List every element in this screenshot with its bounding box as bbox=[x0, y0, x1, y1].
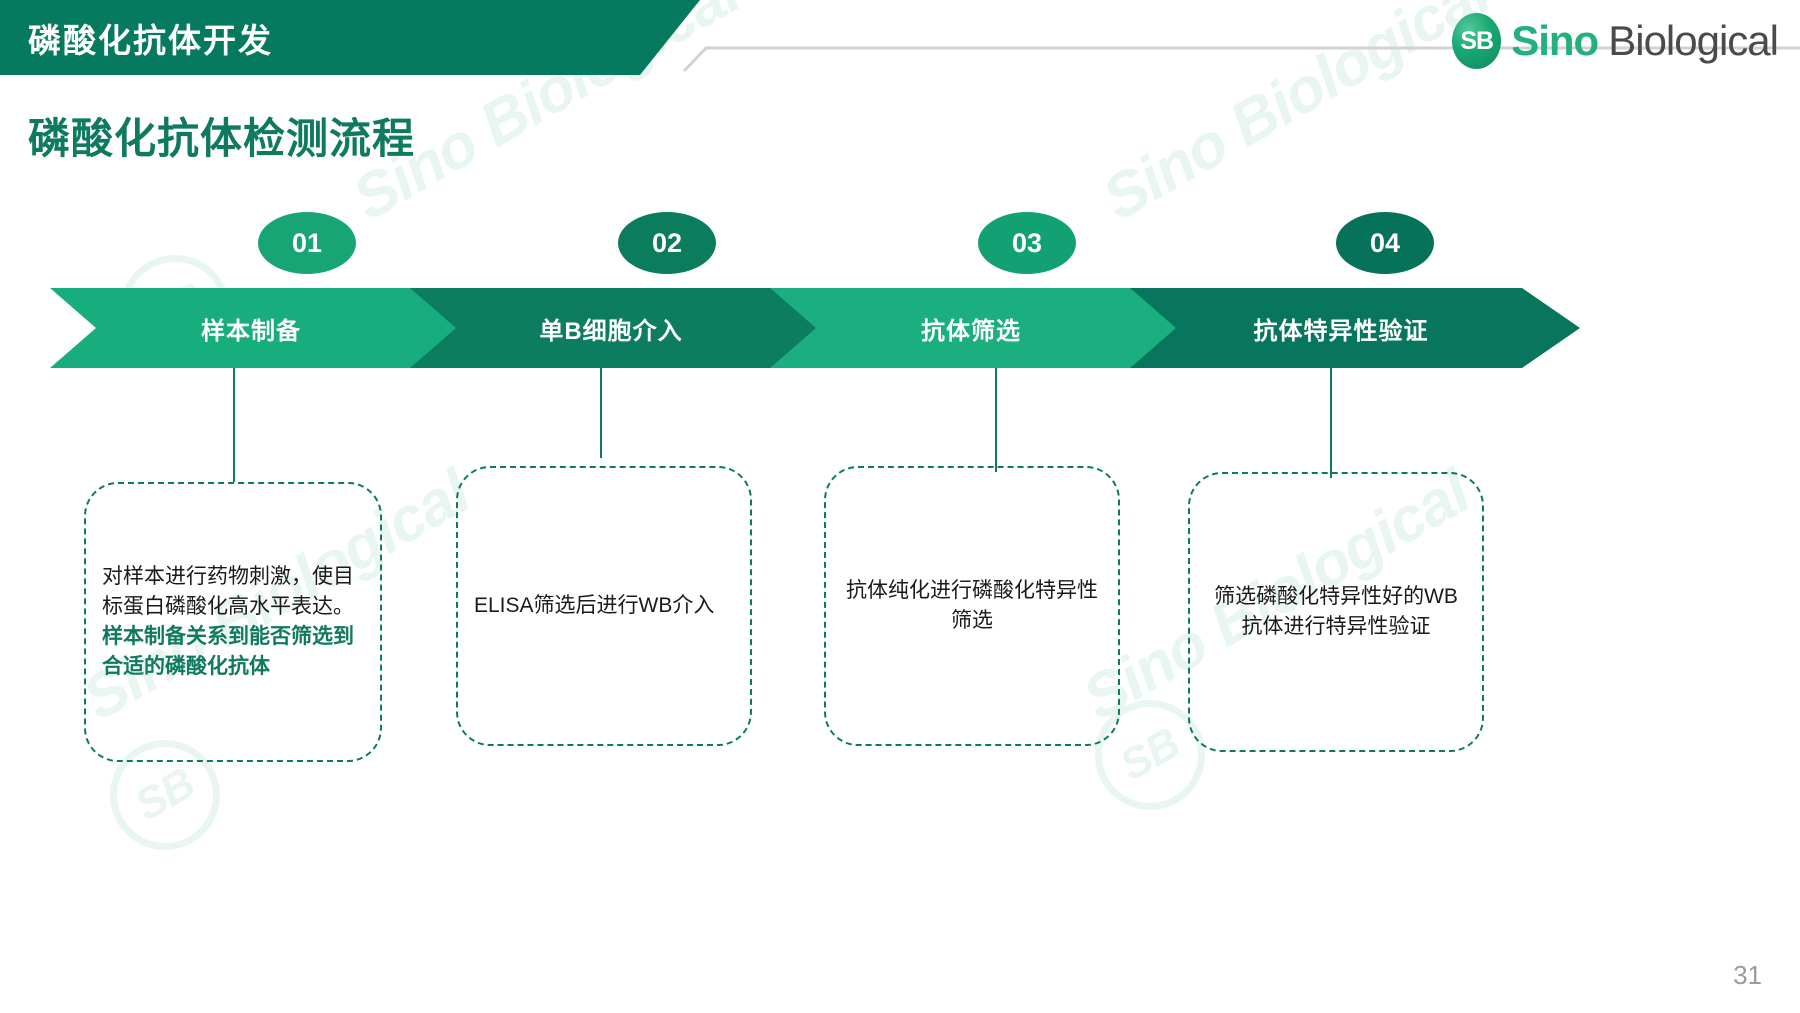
process-arrow-band: 样本制备 单B细胞介入 抗体筛选 抗体特异性验证 bbox=[50, 288, 1750, 368]
page-title: 磷酸化抗体检测流程 bbox=[28, 105, 415, 166]
slide-canvas: Sino Biological Sino Biological Sino Bio… bbox=[0, 0, 1800, 1013]
sino-biological-logo: SB Sino Biological bbox=[1452, 13, 1778, 69]
step-badge-number-1: 01 bbox=[292, 228, 322, 259]
step-description-box-3: 抗体纯化进行磷酸化特异性筛选 bbox=[824, 466, 1120, 746]
process-arrow-label-1: 样本制备 bbox=[201, 311, 301, 346]
step-description-line: 对样本进行药物刺激，使目标蛋白磷酸化高水平表达。 bbox=[102, 562, 364, 622]
step-badge-number-2: 02 bbox=[652, 228, 682, 259]
connector-line-2 bbox=[600, 368, 602, 458]
step-description-line: 筛选磷酸化特异性好的WB抗体进行特异性验证 bbox=[1206, 582, 1466, 642]
step-badge-3[interactable]: 03 bbox=[978, 212, 1076, 274]
step-description-box-1: 对样本进行药物刺激，使目标蛋白磷酸化高水平表达。 样本制备关系到能否筛选到合适的… bbox=[84, 482, 382, 762]
connector-line-1 bbox=[233, 368, 235, 482]
logo-word-sino: Sino bbox=[1511, 17, 1598, 65]
process-arrow-1[interactable]: 样本制备 bbox=[50, 288, 480, 368]
step-description-line: 抗体纯化进行磷酸化特异性筛选 bbox=[842, 576, 1102, 636]
step-description-body-3: 抗体纯化进行磷酸化特异性筛选 bbox=[842, 576, 1102, 636]
process-arrow-label-3: 抗体筛选 bbox=[921, 311, 1021, 346]
watermark-text: Sino Biological bbox=[1091, 0, 1501, 234]
process-arrow-3[interactable]: 抗体筛选 bbox=[770, 288, 1200, 368]
step-description-line: ELISA筛选后进行WB介入 bbox=[474, 591, 734, 621]
step-description-box-4: 筛选磷酸化特异性好的WB抗体进行特异性验证 bbox=[1188, 472, 1484, 752]
step-badge-2[interactable]: 02 bbox=[618, 212, 716, 274]
process-arrow-4[interactable]: 抗体特异性验证 bbox=[1130, 288, 1580, 368]
step-description-body-2: ELISA筛选后进行WB介入 bbox=[474, 591, 734, 621]
process-arrow-2[interactable]: 单B细胞介入 bbox=[410, 288, 840, 368]
step-description-highlight: 样本制备关系到能否筛选到合适的磷酸化抗体 bbox=[102, 622, 364, 682]
step-description-body-1: 对样本进行药物刺激，使目标蛋白磷酸化高水平表达。 样本制备关系到能否筛选到合适的… bbox=[102, 562, 364, 681]
process-arrow-label-2: 单B细胞介入 bbox=[539, 311, 682, 346]
logo-word-biological: Biological bbox=[1608, 17, 1778, 65]
connector-line-3 bbox=[995, 368, 997, 472]
step-badge-number-3: 03 bbox=[1012, 228, 1042, 259]
step-badge-4[interactable]: 04 bbox=[1336, 212, 1434, 274]
step-badge-number-4: 04 bbox=[1370, 228, 1400, 259]
process-arrow-label-4: 抗体特异性验证 bbox=[1254, 311, 1429, 346]
step-description-box-2: ELISA筛选后进行WB介入 bbox=[456, 466, 752, 746]
step-badge-1[interactable]: 01 bbox=[258, 212, 356, 274]
page-number: 31 bbox=[1733, 960, 1762, 991]
header-banner-title: 磷酸化抗体开发 bbox=[28, 14, 273, 62]
connector-line-4 bbox=[1330, 368, 1332, 478]
sb-logo-icon: SB bbox=[1452, 13, 1501, 69]
step-description-body-4: 筛选磷酸化特异性好的WB抗体进行特异性验证 bbox=[1206, 582, 1466, 642]
